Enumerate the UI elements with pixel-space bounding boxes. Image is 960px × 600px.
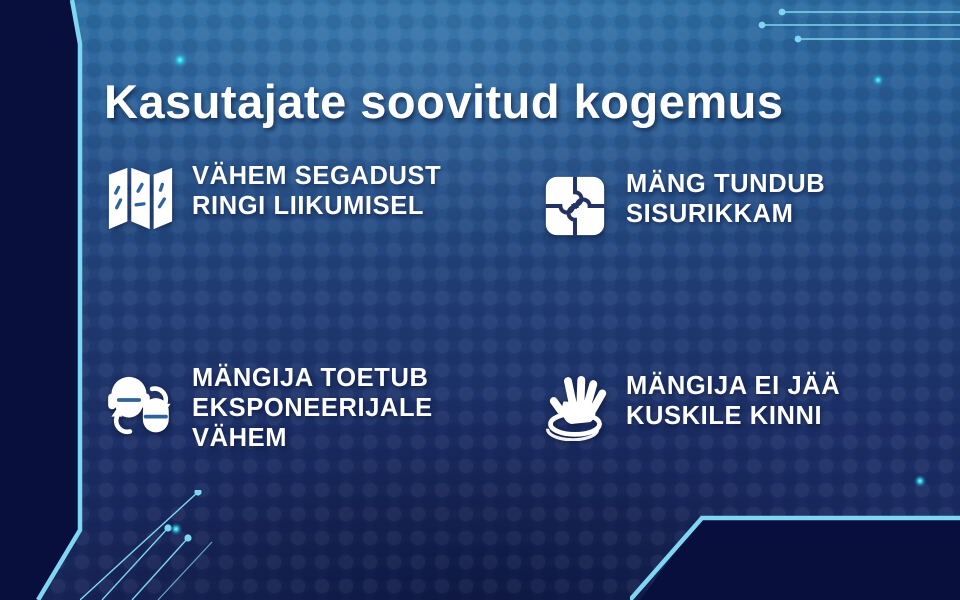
hand-in-hole-icon (538, 370, 612, 446)
glow-dot (914, 475, 926, 487)
feature-item-no-getting-stuck: MÄNGIJA EI JÄÄ KUSKILE KINNI (538, 370, 914, 453)
circuit-lines-top-right (750, 0, 960, 70)
glow-dot (170, 523, 182, 535)
feature-label: MÄNG TUNDUB SISURIKKAM (626, 168, 914, 230)
slide-root: Kasutajate soovitud kogemus (0, 0, 960, 600)
feature-grid: VÄHEM SEGADUST RINGI LIIKUMISEL (104, 160, 914, 453)
feature-item-less-confusion: VÄHEM SEGADUST RINGI LIIKUMISEL (104, 160, 516, 340)
puzzle-pieces-icon (538, 168, 612, 244)
folded-map-icon (104, 160, 178, 236)
feature-item-less-reliance-on-host: MÄNGIJA TOETUB EKSPONEERIJALE VÄHEM (104, 362, 516, 453)
feature-item-richer-content: MÄNG TUNDUB SISURIKKAM (538, 168, 914, 340)
glow-dot (172, 52, 188, 68)
circuit-lines-bottom-left (80, 490, 340, 600)
glow-dot (872, 74, 884, 86)
feature-label: MÄNGIJA EI JÄÄ KUSKILE KINNI (626, 370, 914, 432)
left-corner-panel (0, 0, 80, 600)
feature-label: MÄNGIJA TOETUB EKSPONEERIJALE VÄHEM (192, 362, 516, 453)
bottom-right-corner-panel (640, 516, 960, 600)
feature-label: VÄHEM SEGADUST RINGI LIIKUMISEL (192, 160, 516, 222)
player-support-exchange-icon (104, 362, 178, 438)
page-title: Kasutajate soovitud kogemus (104, 74, 784, 129)
